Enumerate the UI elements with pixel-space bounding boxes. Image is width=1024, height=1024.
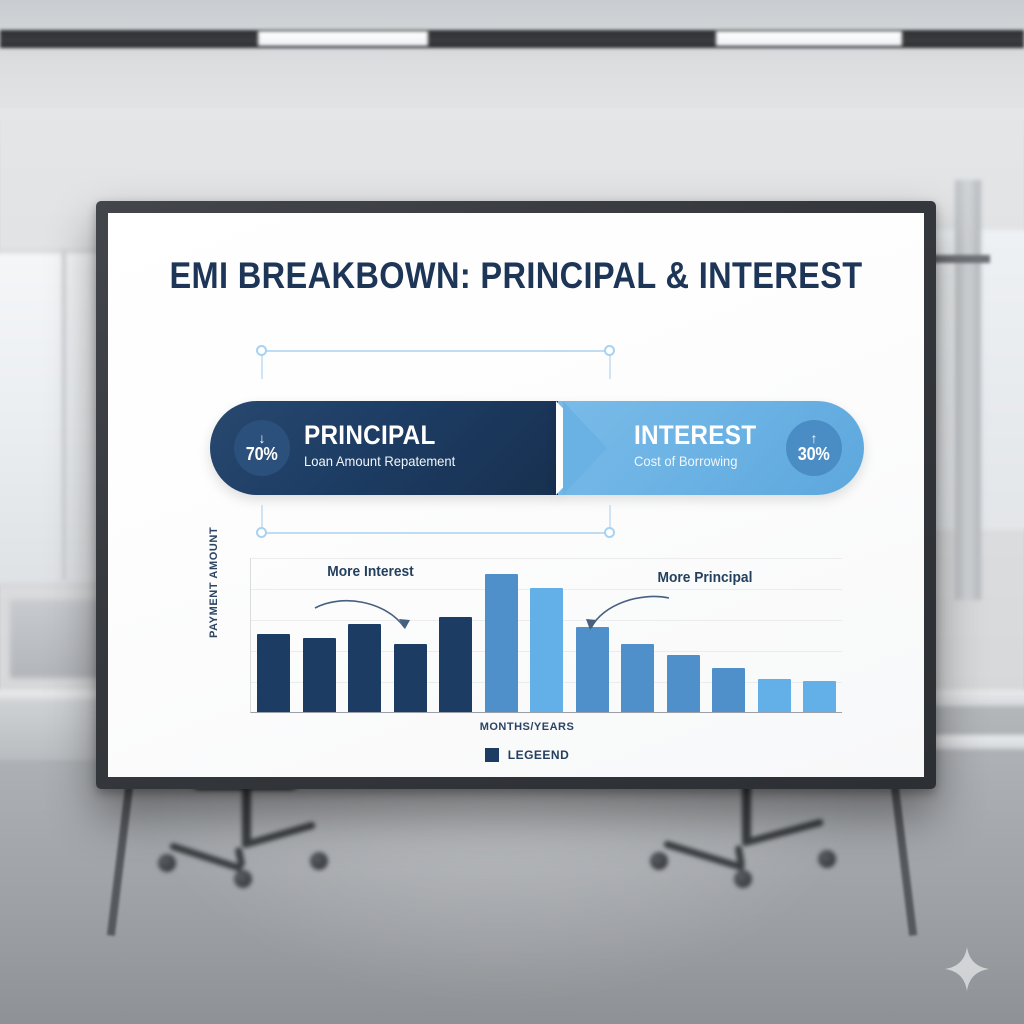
y-axis-label: PAYMENT AMOUNT	[208, 518, 220, 638]
chart-bar	[394, 644, 427, 712]
ceiling-light-left	[258, 31, 428, 46]
chart-bar	[257, 634, 290, 712]
chart-bar	[712, 668, 745, 712]
legend-swatch-icon	[485, 748, 499, 762]
bracket-dot-left	[256, 345, 267, 356]
interest-text-group: INTEREST Cost of Borrowing	[634, 420, 770, 470]
interest-subtitle: Cost of Borrowing	[634, 453, 760, 470]
chart-plot-area: More Interest More Principal	[250, 558, 842, 713]
bracket-bottom	[256, 505, 616, 539]
window-mullion	[62, 250, 66, 580]
annotation-more-interest: More Interest	[327, 564, 414, 580]
chart-bar	[803, 681, 836, 712]
ceiling-light-right	[716, 31, 902, 46]
principal-text-group: PRINCIPAL Loan Amount Repatement	[304, 420, 467, 470]
chart-bar	[530, 588, 563, 712]
interest-percent-badge: ↑ 30%	[786, 420, 842, 476]
page-title: EMI BREAKBOWN: PRINCIPAL & INTEREST	[157, 255, 875, 297]
interest-heading: INTEREST	[634, 420, 756, 450]
chart-bar	[758, 679, 791, 712]
amortization-bar-chart: PAYMENT AMOUNT More Interest More Princi…	[212, 558, 842, 758]
annotation-arrow-interest	[311, 580, 451, 640]
interest-percent-value: 30%	[798, 444, 830, 464]
chart-bar	[303, 638, 336, 712]
arrow-down-icon: ↓	[259, 432, 266, 444]
chart-bar	[621, 644, 654, 712]
annotation-more-principal: More Principal	[657, 570, 752, 586]
ceiling-beam	[930, 255, 990, 263]
principal-subtitle: Loan Amount Repatement	[304, 453, 455, 470]
principal-percent-badge: ↓ 70%	[234, 420, 290, 476]
chart-bar	[667, 655, 700, 712]
principal-heading: PRINCIPAL	[304, 420, 450, 450]
segment-interest[interactable]: INTEREST Cost of Borrowing ↑ 30%	[558, 401, 864, 495]
ceiling	[0, 0, 1024, 120]
legend-label: LEGEEND	[508, 748, 570, 762]
bracket-top	[256, 345, 616, 379]
presentation-screen-frame: EMI BREAKBOWN: PRINCIPAL & INTEREST ↓ 70…	[96, 201, 936, 789]
principal-percent-value: 70%	[246, 444, 278, 464]
chart-bar	[485, 574, 518, 712]
annotation-arrow-principal	[561, 586, 681, 646]
arrow-up-icon: ↑	[811, 432, 818, 444]
x-axis-label: MONTHS/YEARS	[212, 721, 842, 733]
chart-legend: LEGEEND	[212, 748, 842, 762]
principal-interest-banner: ↓ 70% PRINCIPAL Loan Amount Repatement I…	[210, 401, 864, 495]
segment-principal[interactable]: ↓ 70% PRINCIPAL Loan Amount Repatement	[210, 401, 560, 495]
office-room-scene: EMI BREAKBOWN: PRINCIPAL & INTEREST ↓ 70…	[0, 0, 1024, 1024]
slide-canvas: EMI BREAKBOWN: PRINCIPAL & INTEREST ↓ 70…	[108, 213, 924, 777]
sparkle-icon	[944, 946, 990, 992]
monitor-left	[10, 600, 102, 678]
bracket-dot-left	[256, 527, 267, 538]
bracket-dot-right	[604, 345, 615, 356]
bracket-dot-right	[604, 527, 615, 538]
pillar-right	[955, 180, 981, 600]
